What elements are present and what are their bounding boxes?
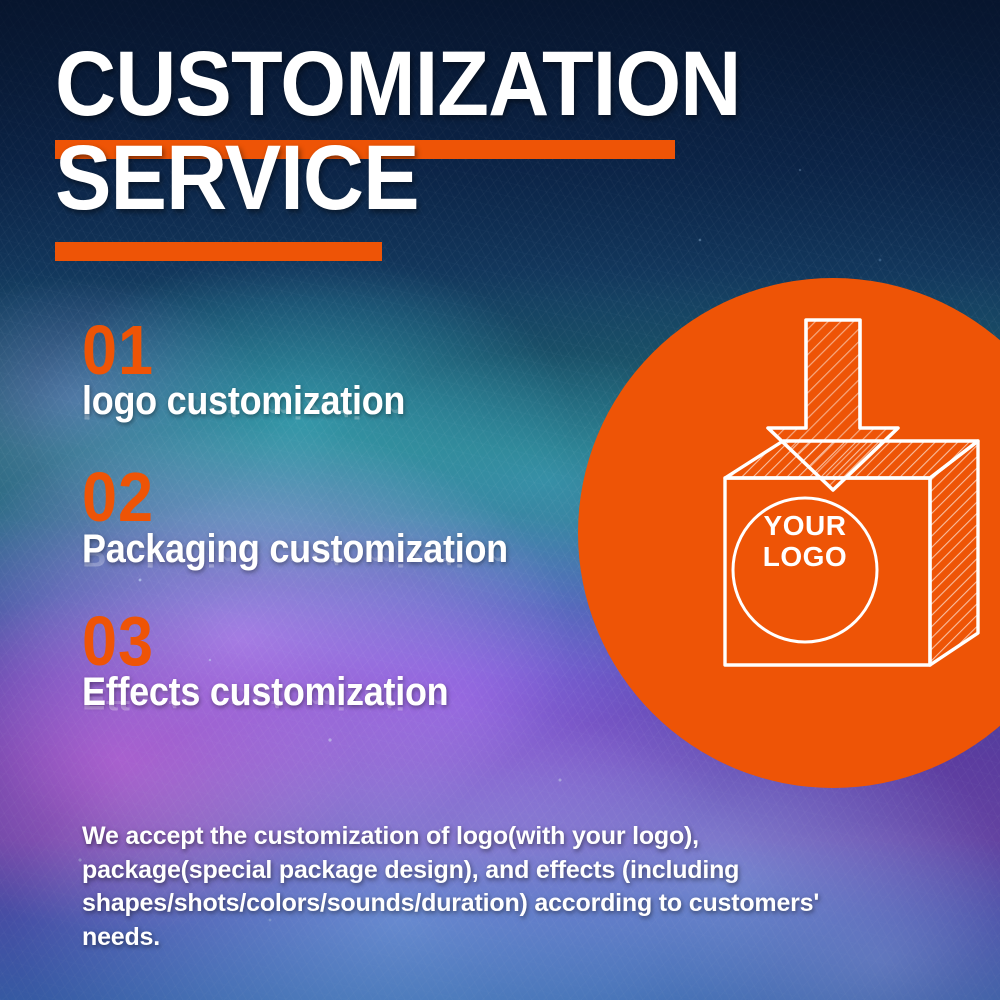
list-item: 02 Packaging customization Packaging cus… [82,469,642,574]
service-items-list: 01 logo customization logo customization… [82,322,642,748]
item-label-02-reflection: Packaging customization [82,538,508,571]
box-right-face [930,441,978,665]
custom-logo-graphic: YOUR LOGO [578,278,1000,788]
item-number-01: 01 [82,322,586,379]
headline-line-2: SERVICE [55,136,735,221]
description-text: We accept the customization of logo(with… [82,820,842,954]
item-label-03-reflection: Effects customization [82,681,448,714]
your-logo-label: YOUR LOGO [725,510,885,573]
item-number-03: 03 [82,613,586,670]
page-title-line2: SERVICE [55,136,681,221]
your-logo-line2: LOGO [725,541,885,572]
page-title-line1: CUSTOMIZATION [55,42,681,127]
customization-service-banner: CUSTOMIZATION SERVICE 01 logo customizat… [0,0,1000,1000]
item-label-wrap-01: logo customization logo customization [82,381,642,427]
list-item: 01 logo customization logo customization [82,322,642,427]
item-number-02: 02 [82,469,586,526]
item-label-wrap-02: Packaging customization Packaging custom… [82,529,642,575]
description-paragraph: We accept the customization of logo(with… [82,820,842,954]
headline-block: CUSTOMIZATION SERVICE [55,42,735,220]
item-label-wrap-03: Effects customization Effects customizat… [82,672,642,718]
headline-line-1: CUSTOMIZATION [55,42,735,127]
item-label-01-reflection: logo customization [82,391,405,424]
your-logo-line1: YOUR [725,510,885,541]
list-item: 03 Effects customization Effects customi… [82,613,642,718]
headline-underline-bar-2 [55,242,382,261]
